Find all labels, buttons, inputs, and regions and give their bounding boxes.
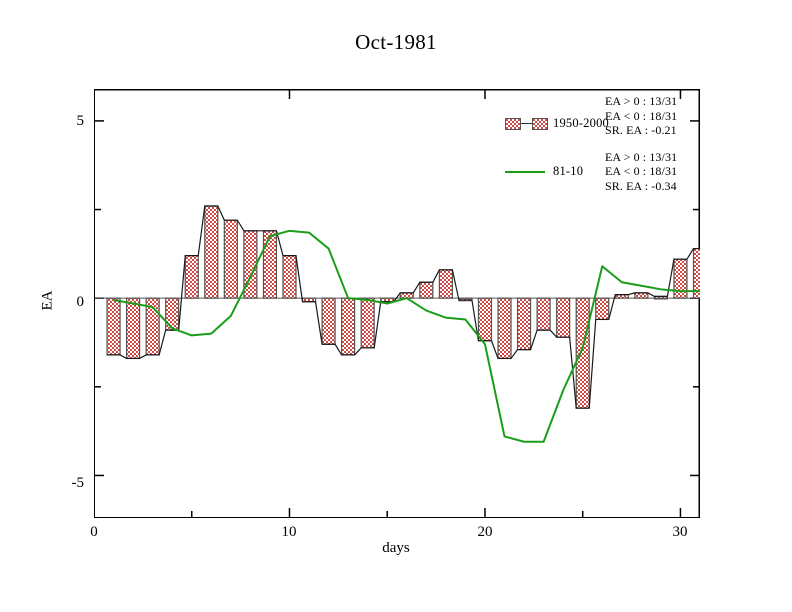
- legend-label-81-10: 81-10: [553, 164, 583, 179]
- annotation-1-negative-count: EA < 0 : 18/31: [605, 109, 677, 124]
- annotation-1-positive-count: EA > 0 : 13/31: [605, 94, 677, 109]
- y-tick-label-0: 0: [44, 294, 84, 311]
- x-tick-label-20: 20: [465, 524, 505, 541]
- x-tick-label-10: 10: [269, 524, 309, 541]
- y-tick-label-5: 5: [44, 113, 84, 130]
- annotations-panel: EA > 0 : 13/31 EA < 0 : 18/31 SR. EA : -…: [605, 94, 677, 205]
- legend-bar-icon-right: [532, 118, 548, 130]
- legend-entry-81-10[interactable]: 81-10: [505, 164, 583, 179]
- annotation-1-sr-ea: SR. EA : -0.21: [605, 123, 677, 138]
- legend-bar-icon-left: [505, 118, 521, 130]
- annotation-2-sr-ea: SR. EA : -0.34: [605, 179, 677, 194]
- y-tick-label-neg5: -5: [44, 475, 84, 492]
- annotation-block-2: EA > 0 : 13/31 EA < 0 : 18/31 SR. EA : -…: [605, 150, 677, 194]
- legend-label-1950-2000: 1950-2000: [553, 116, 609, 131]
- x-tick-label-30: 30: [660, 524, 700, 541]
- x-tick-label-0: 0: [74, 524, 114, 541]
- chart-page: Oct-1981 EA days 5 0 -5 0 10 20 30: [0, 0, 792, 612]
- legend-connector-line: [521, 123, 532, 125]
- annotation-2-negative-count: EA < 0 : 18/31: [605, 164, 677, 179]
- annotation-block-1: EA > 0 : 13/31 EA < 0 : 18/31 SR. EA : -…: [605, 94, 677, 138]
- x-axis-title: days: [0, 540, 792, 557]
- legend-bar-swatch: [505, 118, 553, 130]
- page-title: Oct-1981: [0, 30, 792, 55]
- legend-line-icon: [505, 171, 545, 173]
- legend-entry-1950-2000[interactable]: 1950-2000: [505, 116, 609, 131]
- annotation-2-positive-count: EA > 0 : 13/31: [605, 150, 677, 165]
